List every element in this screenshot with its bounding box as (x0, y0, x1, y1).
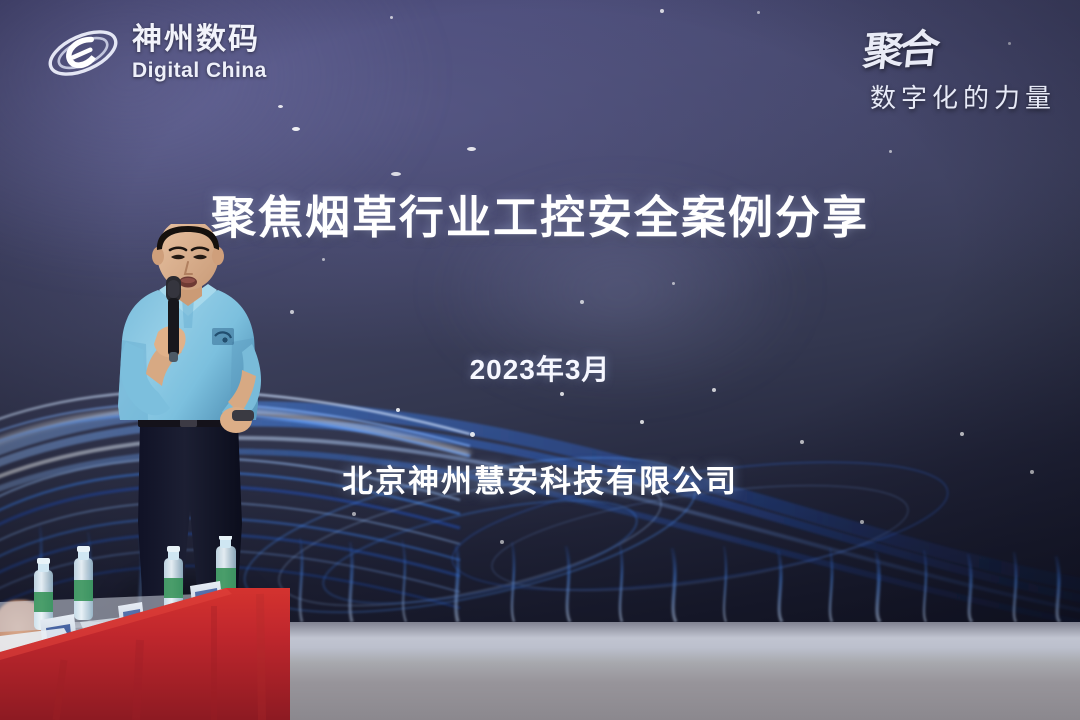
brand-logo: 神州数码 Digital China (44, 18, 267, 88)
event-slogan: 聚合 数字化的力量 (864, 18, 1056, 115)
digital-china-swirl-icon (44, 18, 122, 88)
microphone-icon (166, 276, 181, 362)
foreground-table (0, 536, 290, 720)
shirt-chest-emblem (212, 328, 234, 345)
water-bottle (74, 546, 93, 620)
slogan-brush-text: 聚合 (861, 16, 940, 78)
slogan-sub-text: 数字化的力量 (864, 78, 1056, 115)
screenshot-root: 神州数码 Digital China 聚合 数字化的力量 聚焦烟草行业工控安全案… (0, 0, 1080, 720)
brand-name-en: Digital China (132, 60, 267, 81)
presentation-clicker-icon (232, 410, 254, 421)
brand-name-cn: 神州数码 (132, 25, 267, 55)
